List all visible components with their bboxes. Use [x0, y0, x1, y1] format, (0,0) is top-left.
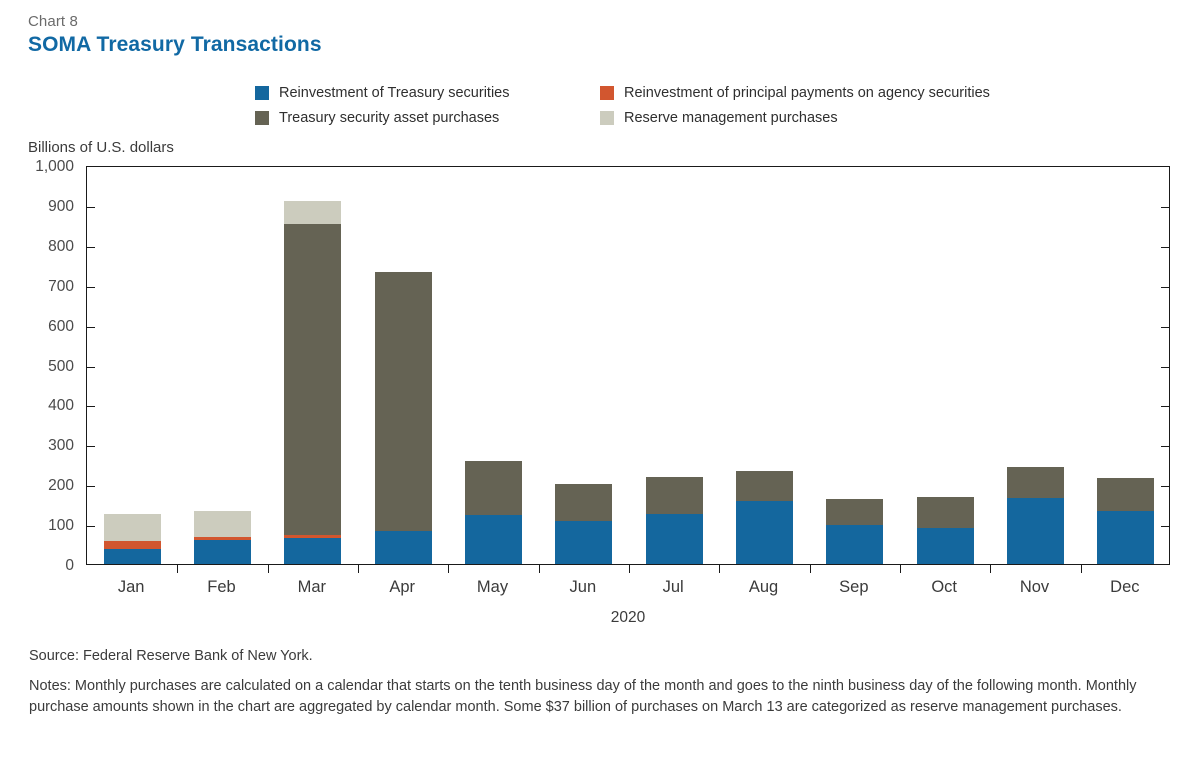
- bar-segment: [1007, 467, 1064, 498]
- bar-segment: [917, 497, 974, 528]
- y-axis-tick: [86, 247, 95, 248]
- y-axis-tick-right: [1161, 287, 1170, 288]
- bar-segment: [736, 471, 793, 502]
- bar-segment: [104, 549, 161, 564]
- bar-segment: [555, 521, 612, 564]
- x-axis-tick: [268, 564, 269, 573]
- x-axis-title: 2020: [86, 609, 1170, 627]
- bar-segment: [284, 224, 341, 535]
- y-axis-tick: [86, 367, 95, 368]
- bar-segment: [917, 528, 974, 564]
- x-axis-tick: [719, 564, 720, 573]
- x-axis-tick: [448, 564, 449, 573]
- footnotes: Notes: Monthly purchases are calculated …: [29, 676, 1159, 718]
- bar-segment: [736, 501, 793, 564]
- y-axis-tick-right: [1161, 327, 1170, 328]
- bar-segment: [646, 477, 703, 514]
- bar-jun[interactable]: [555, 484, 612, 564]
- x-axis-tick: [177, 564, 178, 573]
- bar-apr[interactable]: [375, 272, 432, 564]
- y-axis-tick-label: 700: [4, 278, 74, 296]
- bar-segment: [194, 511, 251, 537]
- bar-segment: [284, 535, 341, 538]
- plot-area: 01002003004005006007008009001,000: [86, 166, 1170, 565]
- bar-segment: [104, 514, 161, 541]
- x-axis-tick: [810, 564, 811, 573]
- bar-dec[interactable]: [1097, 478, 1154, 564]
- bar-segment: [1097, 511, 1154, 564]
- bar-segment: [1007, 498, 1064, 564]
- y-axis-tick-right: [1161, 367, 1170, 368]
- bar-segment: [375, 531, 432, 564]
- bar-segment: [465, 515, 522, 564]
- y-axis-tick-right: [1161, 247, 1170, 248]
- y-axis-tick: [86, 327, 95, 328]
- y-axis-tick: [86, 406, 95, 407]
- bar-segment: [646, 514, 703, 564]
- y-axis-tick-right: [1161, 486, 1170, 487]
- y-axis-tick-label: 1,000: [4, 158, 74, 176]
- bar-mar[interactable]: [284, 201, 341, 564]
- y-axis-tick: [86, 287, 95, 288]
- y-axis-tick-label: 400: [4, 397, 74, 415]
- bar-may[interactable]: [465, 461, 522, 564]
- bar-segment: [555, 484, 612, 521]
- x-axis-tick: [539, 564, 540, 573]
- y-axis-tick-label: 800: [4, 238, 74, 256]
- bar-nov[interactable]: [1007, 467, 1064, 564]
- bar-oct[interactable]: [917, 497, 974, 564]
- x-axis-label-dec: Dec: [1065, 578, 1185, 597]
- x-axis-tick: [900, 564, 901, 573]
- bar-aug[interactable]: [736, 471, 793, 564]
- x-axis-tick: [990, 564, 991, 573]
- bar-feb[interactable]: [194, 511, 251, 564]
- y-axis-tick-label: 0: [4, 557, 74, 575]
- source-note: Source: Federal Reserve Bank of New York…: [29, 648, 313, 664]
- y-axis-tick: [86, 207, 95, 208]
- y-axis-tick-right: [1161, 406, 1170, 407]
- y-axis-tick-label: 300: [4, 437, 74, 455]
- y-axis-tick: [86, 526, 95, 527]
- bar-segment: [194, 540, 251, 564]
- bar-segment: [465, 461, 522, 514]
- y-axis-tick-label: 500: [4, 358, 74, 376]
- y-axis-tick-right: [1161, 207, 1170, 208]
- y-axis-tick: [86, 446, 95, 447]
- y-axis-tick-right: [1161, 446, 1170, 447]
- bar-segment: [1097, 478, 1154, 511]
- y-axis-tick-right: [1161, 526, 1170, 527]
- y-axis-tick-label: 600: [4, 318, 74, 336]
- bar-segment: [194, 537, 251, 540]
- bar-segment: [826, 525, 883, 565]
- x-axis-tick: [629, 564, 630, 573]
- x-axis-tick: [1081, 564, 1082, 573]
- y-axis-tick-label: 200: [4, 477, 74, 495]
- y-axis-tick-label: 900: [4, 198, 74, 216]
- y-axis-tick-label: 100: [4, 517, 74, 535]
- chart-page: Chart 8 SOMA Treasury Transactions Reinv…: [0, 0, 1201, 781]
- bar-segment: [284, 538, 341, 564]
- bar-sep[interactable]: [826, 499, 883, 564]
- x-axis-tick: [358, 564, 359, 573]
- bar-jan[interactable]: [104, 514, 161, 564]
- bar-jul[interactable]: [646, 477, 703, 564]
- bar-segment: [104, 541, 161, 549]
- bar-segment: [826, 499, 883, 525]
- bar-segment: [375, 272, 432, 531]
- bar-segment: [284, 201, 341, 225]
- y-axis-tick: [86, 486, 95, 487]
